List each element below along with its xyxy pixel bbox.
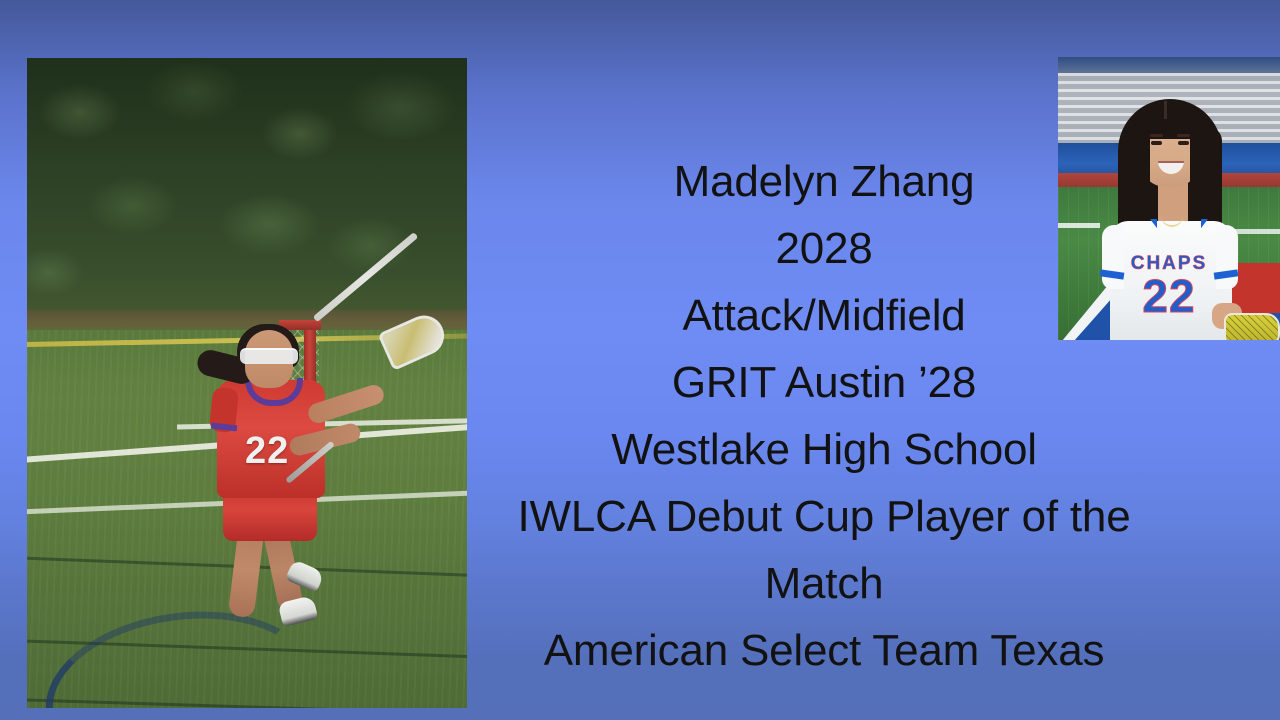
award: IWLCA Debut Cup Player of the Match bbox=[474, 483, 1174, 617]
lacrosse-goggles-icon bbox=[240, 348, 298, 364]
position: Attack/Midfield bbox=[474, 282, 1174, 349]
action-jersey-number: 22 bbox=[245, 430, 289, 473]
player-name: Madelyn Zhang bbox=[474, 148, 1174, 215]
portrait-left-eye bbox=[1151, 141, 1162, 145]
portrait-hair-part bbox=[1164, 101, 1167, 119]
lacrosse-action-photo: 22 bbox=[27, 58, 467, 708]
grad-year: 2028 bbox=[474, 215, 1174, 282]
player-info-text-block: Madelyn Zhang 2028 Attack/Midfield GRIT … bbox=[474, 148, 1174, 684]
recruiting-slide: 22 bbox=[0, 0, 1280, 720]
high-school: Westlake High School bbox=[474, 416, 1174, 483]
portrait-left-eyebrow bbox=[1150, 134, 1163, 137]
field-yard-line bbox=[1234, 229, 1280, 234]
select-team: American Select Team Texas bbox=[474, 617, 1174, 684]
treeline-shadow bbox=[27, 58, 467, 326]
portrait-lacrosse-stick-head bbox=[1224, 313, 1280, 340]
portrait-right-eye bbox=[1178, 141, 1189, 145]
stadium-roof-band bbox=[1058, 57, 1280, 73]
club-team: GRIT Austin ’28 bbox=[474, 349, 1174, 416]
portrait-right-eyebrow bbox=[1177, 134, 1190, 137]
